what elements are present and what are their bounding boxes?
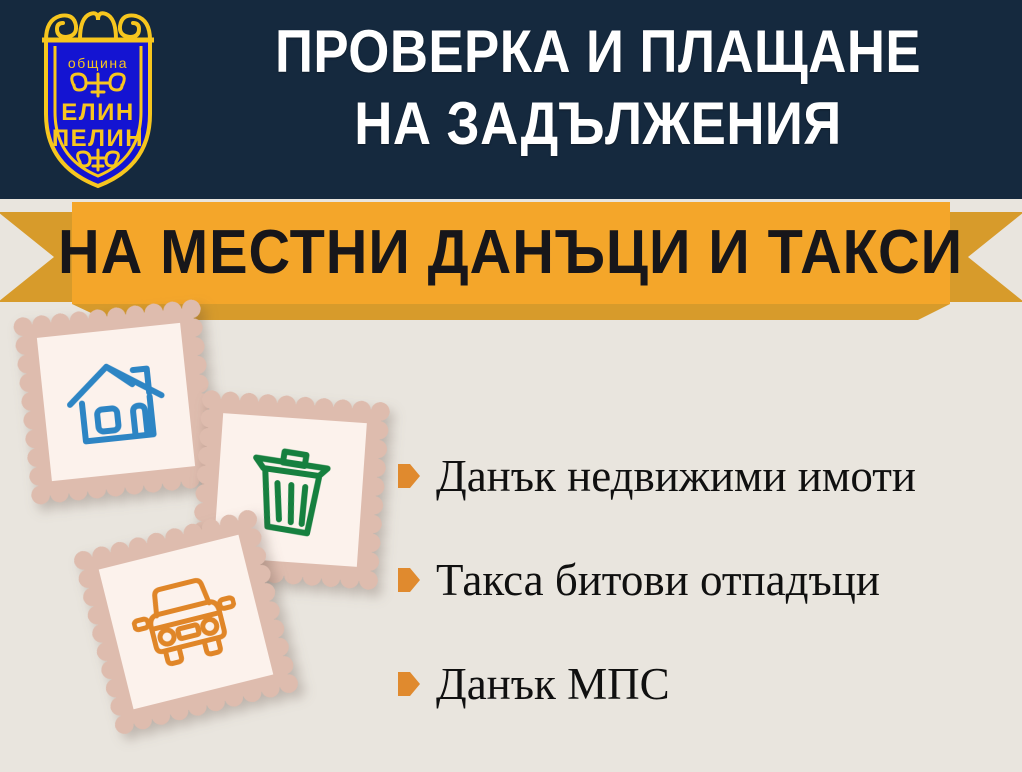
poster-canvas: община ЕЛИН ПЕЛИН bbox=[0, 0, 1022, 772]
stamp-collage bbox=[0, 300, 420, 772]
page-title-line-1: ПРОВЕРКА И ПЛАЩАНЕ bbox=[237, 16, 959, 88]
list-item-label: Данък МПС bbox=[436, 659, 670, 709]
arrow-pentagon-bullet-icon bbox=[398, 568, 420, 592]
subtitle-ribbon: НА МЕСТНИ ДАНЪЦИ И ТАКСИ bbox=[0, 198, 1022, 308]
ribbon-label: НА МЕСТНИ ДАНЪЦИ И ТАКСИ bbox=[59, 221, 964, 285]
header-banner: община ЕЛИН ПЕЛИН bbox=[0, 0, 1022, 199]
list-item[interactable]: Данък недвижими имоти bbox=[398, 424, 1010, 528]
arrow-pentagon-bullet-icon bbox=[398, 672, 420, 696]
arrow-pentagon-bullet-icon bbox=[398, 464, 420, 488]
car-front-icon bbox=[124, 567, 248, 676]
house-icon bbox=[59, 349, 172, 455]
tax-type-list: Данък недвижими имоти Такса битови отпад… bbox=[398, 424, 1010, 736]
ribbon-body: НА МЕСТНИ ДАНЪЦИ И ТАКСИ bbox=[72, 202, 950, 304]
stamp-card-house bbox=[13, 299, 220, 506]
svg-text:ПЕЛИН: ПЕЛИН bbox=[52, 125, 144, 152]
list-item[interactable]: Данък МПС bbox=[398, 632, 1010, 736]
svg-text:община: община bbox=[68, 55, 128, 71]
header-title-block: ПРОВЕРКА И ПЛАЩАНЕ НА ЗАДЪЛЖЕНИЯ bbox=[188, 16, 1008, 160]
list-item-label: Данък недвижими имоти bbox=[436, 451, 916, 501]
list-item[interactable]: Такса битови отпадъци bbox=[398, 528, 1010, 632]
stamp-paper bbox=[37, 323, 195, 481]
municipality-crest: община ЕЛИН ПЕЛИН bbox=[24, 6, 172, 192]
page-title-line-2: НА ЗАДЪЛЖЕНИЯ bbox=[237, 88, 959, 160]
list-item-label: Такса битови отпадъци bbox=[436, 555, 880, 605]
coat-of-arms-shield-icon: община ЕЛИН ПЕЛИН bbox=[24, 6, 172, 192]
svg-text:ЕЛИН: ЕЛИН bbox=[61, 99, 134, 126]
